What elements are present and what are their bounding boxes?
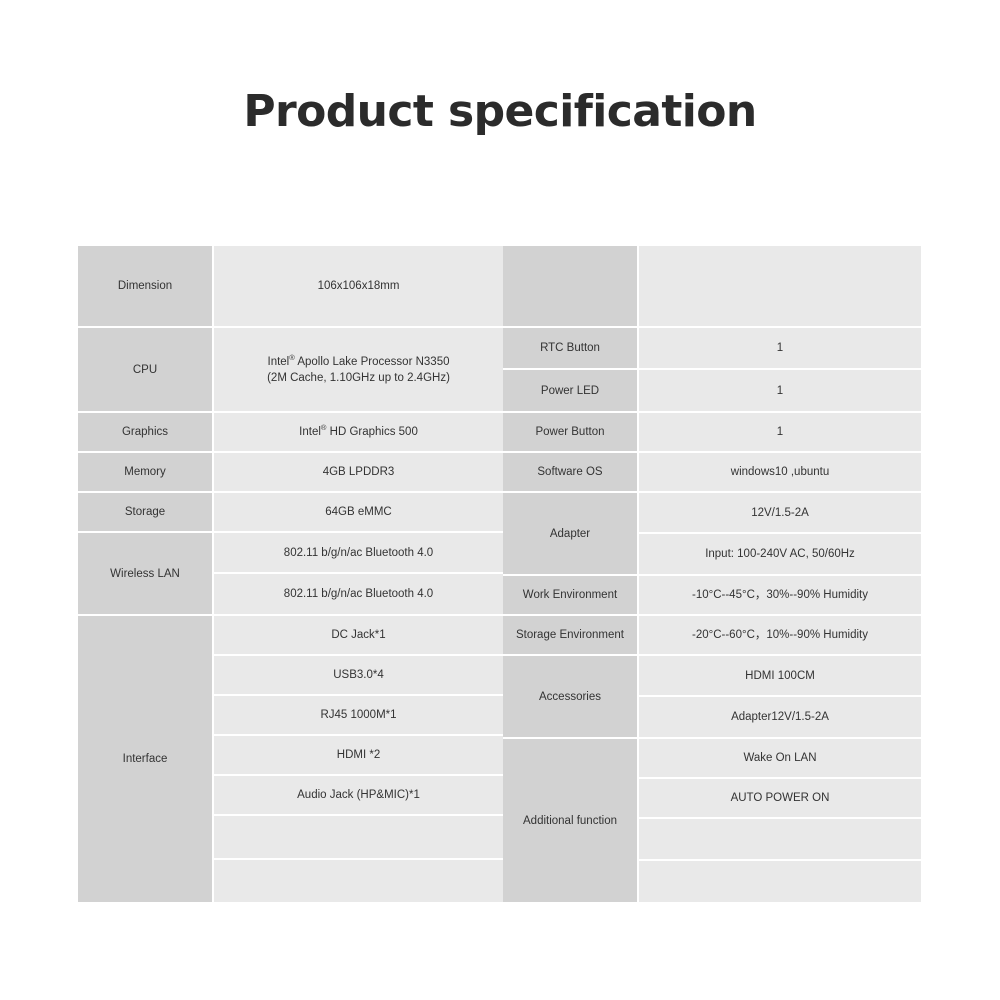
right-value-text: 1 (777, 340, 783, 356)
left-value-empty-cell (214, 816, 503, 858)
right-label-empty-cell (503, 246, 637, 326)
right-value-cell: 12V/1.5-2A (639, 493, 921, 532)
registered-trademark-icon: ® (289, 353, 295, 362)
left-label-text: Graphics (122, 424, 168, 440)
right-label-text: Adapter (550, 526, 590, 542)
right-value-cell: AUTO POWER ON (639, 779, 921, 817)
left-value-empty-cell (214, 860, 503, 902)
left-value-text: USB3.0*4 (333, 667, 384, 683)
left-label-text: Wireless LAN (110, 566, 180, 582)
right-value-text: windows10 ,ubuntu (731, 464, 829, 480)
left-value-cell: 64GB eMMC (214, 493, 503, 531)
specification-table: DimensionCPUGraphicsMemoryStorageWireles… (78, 246, 921, 902)
left-value-text: 802.11 b/g/n/ac Bluetooth 4.0 (284, 586, 433, 602)
right-label-cell: Software OS (503, 453, 637, 491)
right-label-text: Additional function (523, 813, 617, 829)
right-value-cell: -10°C--45°C，30%--90% Humidity (639, 576, 921, 614)
left-label-cell: Wireless LAN (78, 533, 212, 614)
right-value-text: HDMI 100CM (745, 668, 815, 684)
left-value-cell: USB3.0*4 (214, 656, 503, 694)
left-value-cell: 802.11 b/g/n/ac Bluetooth 4.0 (214, 533, 503, 572)
right-value-text: -20°C--60°C，10%--90% Humidity (692, 627, 868, 643)
right-value-empty-cell (639, 861, 921, 902)
left-value-cell: RJ45 1000M*1 (214, 696, 503, 734)
right-label-cell: Accessories (503, 656, 637, 737)
right-value-text: Wake On LAN (743, 750, 816, 766)
right-value-cell: Adapter12V/1.5-2A (639, 697, 921, 737)
right-value-text: 1 (777, 424, 783, 440)
right-value-cell: 1 (639, 413, 921, 451)
right-label-text: Power Button (535, 424, 604, 440)
right-label-text: Work Environment (523, 587, 617, 603)
left-label-cell: Interface (78, 616, 212, 902)
left-label-cell: Memory (78, 453, 212, 491)
right-label-cell: Storage Environment (503, 616, 637, 654)
left-label-cell: Dimension (78, 246, 212, 326)
right-value-text: 12V/1.5-2A (751, 505, 809, 521)
left-value-text: Intel® HD Graphics 500 (299, 424, 418, 440)
left-value-text: Intel® Apollo Lake Processor N3350 (2M C… (267, 354, 450, 386)
right-label-text: Accessories (539, 689, 601, 705)
right-value-empty-cell (639, 246, 921, 326)
right-value-text: Input: 100-240V AC, 50/60Hz (705, 546, 855, 562)
right-value-cell: HDMI 100CM (639, 656, 921, 695)
left-value-text: 64GB eMMC (325, 504, 391, 520)
right-value-text: AUTO POWER ON (731, 790, 830, 806)
right-label-text: RTC Button (540, 340, 600, 356)
left-value-cell: Intel® Apollo Lake Processor N3350 (2M C… (214, 328, 503, 411)
page-title: Product specification (0, 84, 1000, 140)
left-label-cell: Storage (78, 493, 212, 531)
left-label-text: CPU (133, 362, 157, 378)
right-label-cell: Power LED (503, 370, 637, 411)
left-value-cell: Intel® HD Graphics 500 (214, 413, 503, 451)
left-value-text: 802.11 b/g/n/ac Bluetooth 4.0 (284, 545, 433, 561)
spec-table-right-half: RTC ButtonPower LEDPower ButtonSoftware … (503, 246, 921, 902)
right-label-cell: RTC Button (503, 328, 637, 368)
right-value-cell: Input: 100-240V AC, 50/60Hz (639, 534, 921, 574)
left-value-cell: 106x106x18mm (214, 246, 503, 326)
left-label-text: Dimension (118, 278, 172, 294)
right-label-cell: Power Button (503, 413, 637, 451)
right-label-text: Software OS (537, 464, 602, 480)
left-label-text: Interface (123, 751, 168, 767)
right-label-text: Storage Environment (516, 627, 624, 643)
left-value-text: 106x106x18mm (318, 278, 400, 294)
left-value-cell: Audio Jack (HP&MIC)*1 (214, 776, 503, 814)
right-value-text: -10°C--45°C，30%--90% Humidity (692, 587, 868, 603)
left-label-text: Storage (125, 504, 165, 520)
registered-trademark-icon: ® (321, 423, 327, 432)
left-label-text: Memory (124, 464, 166, 480)
left-value-text: HDMI *2 (337, 747, 380, 763)
left-value-text: 4GB LPDDR3 (323, 464, 395, 480)
right-label-text: Power LED (541, 383, 599, 399)
right-label-cell: Work Environment (503, 576, 637, 614)
right-value-cell: 1 (639, 370, 921, 411)
left-label-cell: Graphics (78, 413, 212, 451)
left-value-cell: 802.11 b/g/n/ac Bluetooth 4.0 (214, 574, 503, 614)
left-value-text: RJ45 1000M*1 (320, 707, 396, 723)
left-value-text: Audio Jack (HP&MIC)*1 (297, 787, 420, 803)
right-label-cell: Additional function (503, 739, 637, 902)
left-label-cell: CPU (78, 328, 212, 411)
right-value-text: Adapter12V/1.5-2A (731, 709, 829, 725)
right-value-text: 1 (777, 383, 783, 399)
spec-table-left-half: DimensionCPUGraphicsMemoryStorageWireles… (78, 246, 503, 902)
right-value-cell: 1 (639, 328, 921, 368)
right-value-cell: windows10 ,ubuntu (639, 453, 921, 491)
left-value-text: DC Jack*1 (331, 627, 385, 643)
right-value-cell: Wake On LAN (639, 739, 921, 777)
right-value-empty-cell (639, 819, 921, 859)
right-label-cell: Adapter (503, 493, 637, 574)
left-value-cell: DC Jack*1 (214, 616, 503, 654)
left-value-cell: 4GB LPDDR3 (214, 453, 503, 491)
product-specification-page: Product specification DimensionCPUGraphi… (0, 0, 1000, 1000)
right-value-cell: -20°C--60°C，10%--90% Humidity (639, 616, 921, 654)
left-value-cell: HDMI *2 (214, 736, 503, 774)
